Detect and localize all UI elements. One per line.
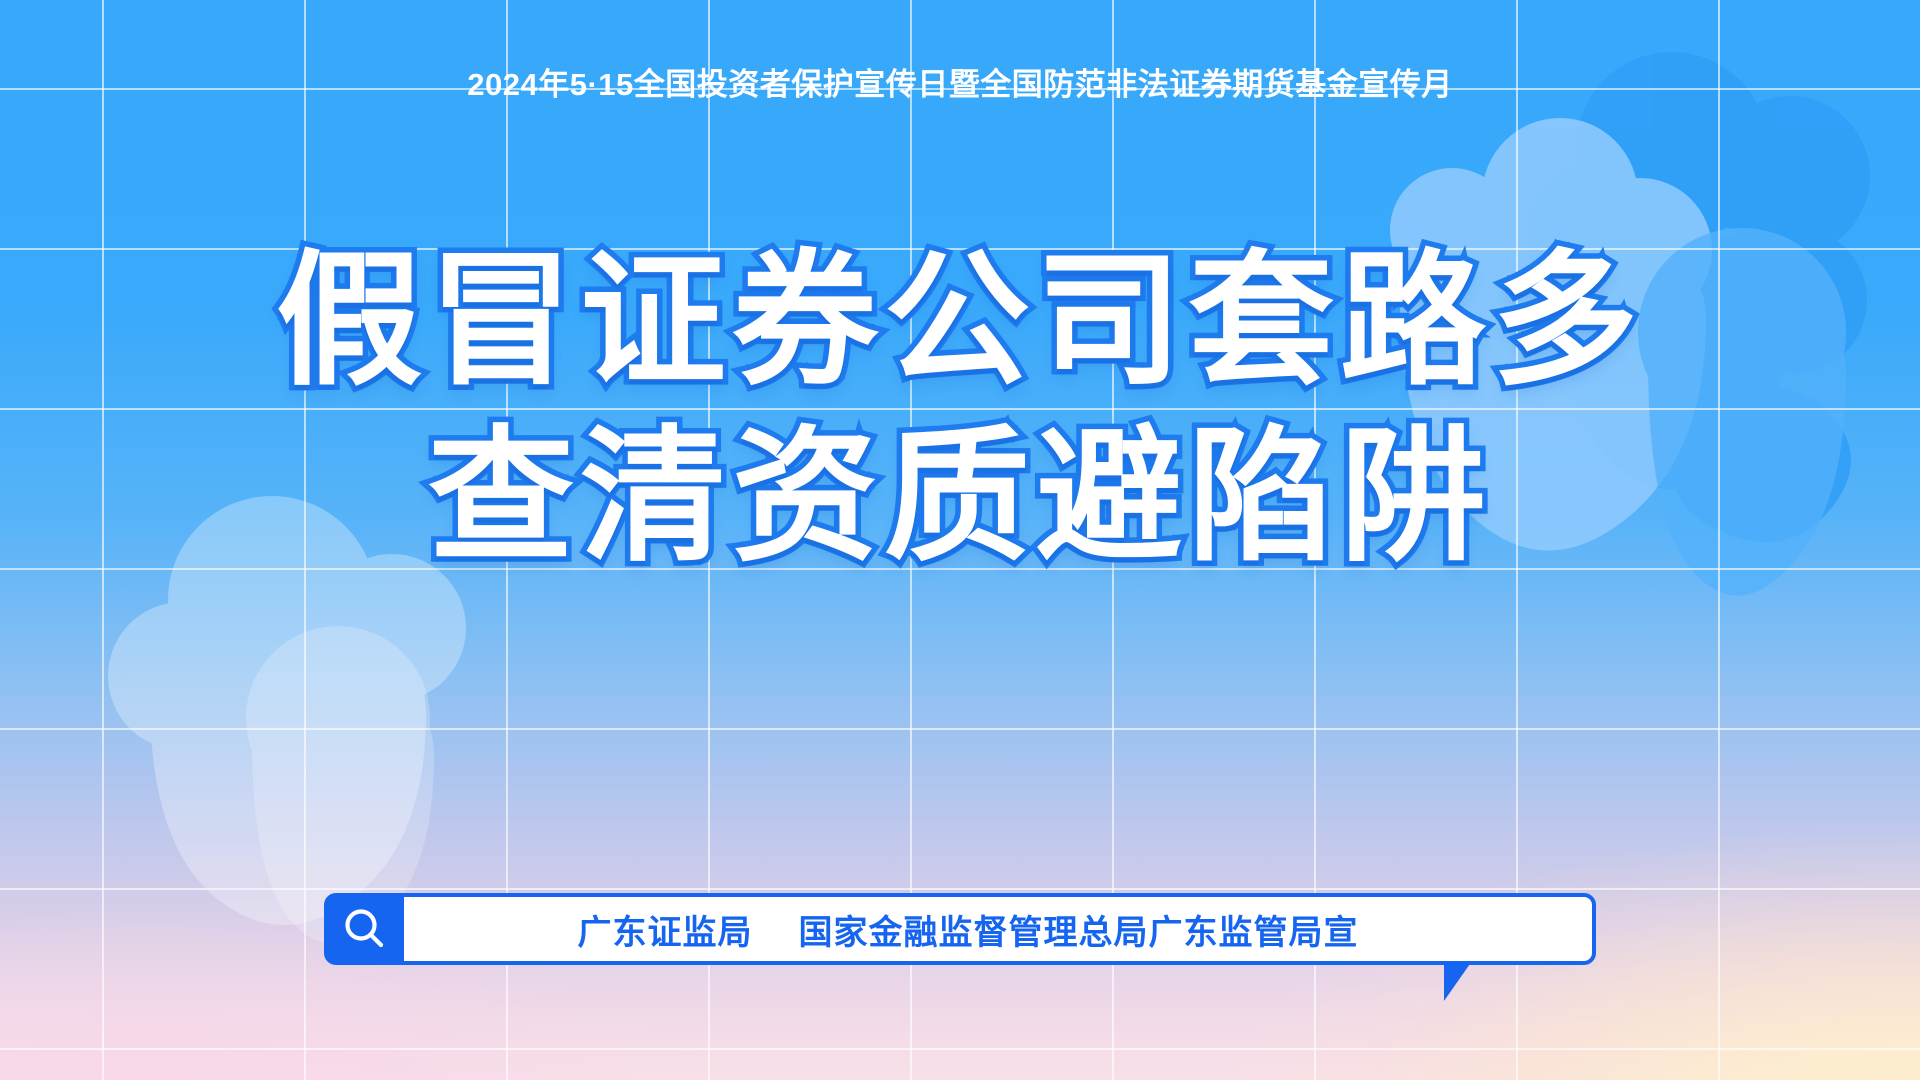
headline-line-1: 假冒证券公司套路多 bbox=[0, 248, 1920, 394]
signature-bar-wrapper: 广东证监局 国家金融监督管理总局广东监管局宣 bbox=[324, 893, 1596, 965]
signature-bar: 广东证监局 国家金融监督管理总局广东监管局宣 bbox=[324, 893, 1596, 965]
headline-line-2: 查清资质避陷阱 bbox=[0, 424, 1920, 570]
signature-organizations: 广东证监局 国家金融监督管理总局广东监管局宣 bbox=[404, 897, 1592, 961]
speech-bubble-tail bbox=[1444, 961, 1472, 1001]
org-secondary-label: 国家金融监督管理总局广东监管局宣 bbox=[799, 905, 1359, 954]
search-magnifier-icon bbox=[326, 895, 404, 963]
campaign-header-text: 2024年5·15全国投资者保护宣传日暨全国防范非法证券期货基金宣传月 bbox=[467, 68, 1453, 102]
headline-block: 假冒证券公司套路多 查清资质避陷阱 bbox=[0, 248, 1920, 570]
poster-canvas: 2024年5·15全国投资者保护宣传日暨全国防范非法证券期货基金宣传月 假冒证券… bbox=[0, 0, 1920, 1080]
campaign-header: 2024年5·15全国投资者保护宣传日暨全国防范非法证券期货基金宣传月 bbox=[0, 68, 1920, 102]
org-primary-label: 广东证监局 bbox=[578, 905, 753, 954]
